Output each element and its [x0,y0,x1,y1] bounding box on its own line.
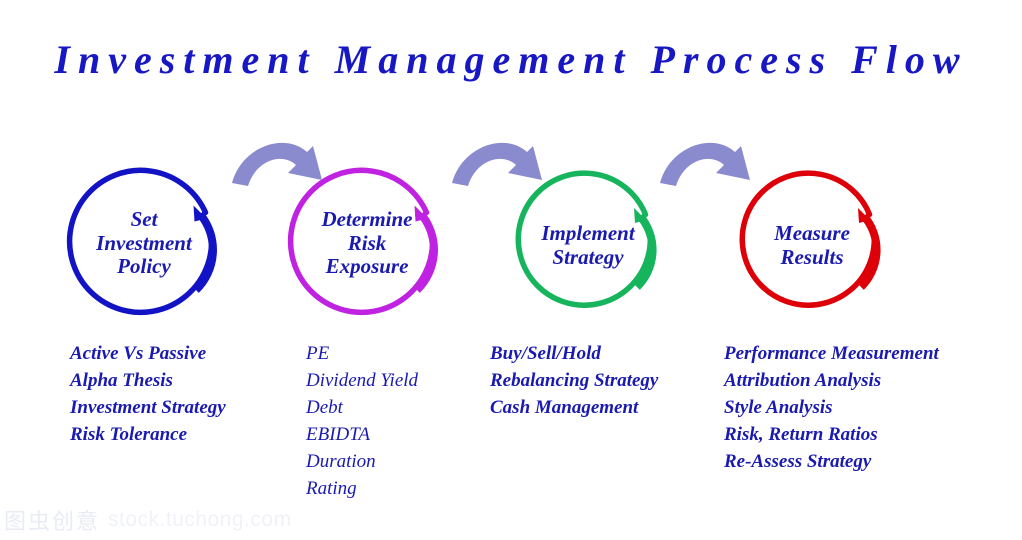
detail-list-set-investment-policy: Active Vs Passive Alpha Thesis Investmen… [70,341,226,449]
connector-arrow-2 [452,143,542,186]
list-item: Alpha Thesis [70,368,226,395]
list-item: PE [306,341,418,368]
watermark-url-text: stock.tuchong.com [108,508,292,532]
connector-arrow-3 [660,143,750,186]
diagram-canvas: Investment Management Process Flow [0,0,1022,540]
list-item: Style Analysis [724,395,939,422]
detail-list-implement-strategy: Buy/Sell/Hold Rebalancing Strategy Cash … [490,341,658,422]
detail-list-determine-risk-exposure: PE Dividend Yield Debt EBIDTA Duration R… [306,341,418,503]
list-item: Rating [306,476,418,503]
node-label-implement-strategy: Implement Strategy [516,222,660,269]
list-item: Risk, Return Ratios [724,422,939,449]
list-item: Duration [306,449,418,476]
list-item: Buy/Sell/Hold [490,341,658,368]
list-item: Performance Measurement [724,341,939,368]
list-item: Debt [306,395,418,422]
list-item: Cash Management [490,395,658,422]
node-label-measure-results: Measure Results [740,222,884,269]
node-label-set-investment-policy: Set Investment Policy [76,208,212,279]
list-item: EBIDTA [306,422,418,449]
watermark: 图虫创意 stock.tuchong.com [4,504,292,536]
list-item: Attribution Analysis [724,368,939,395]
list-item: Active Vs Passive [70,341,226,368]
page-title: Investment Management Process Flow [0,36,1022,83]
list-item: Re-Assess Strategy [724,449,939,476]
watermark-cn-text: 图虫创意 [4,504,100,536]
list-item: Rebalancing Strategy [490,368,658,395]
detail-list-measure-results: Performance Measurement Attribution Anal… [724,341,939,476]
connector-arrow-1 [232,143,322,186]
list-item: Investment Strategy [70,395,226,422]
list-item: Dividend Yield [306,368,418,395]
node-label-determine-risk-exposure: Determine Risk Exposure [296,208,438,279]
list-item: Risk Tolerance [70,422,226,449]
